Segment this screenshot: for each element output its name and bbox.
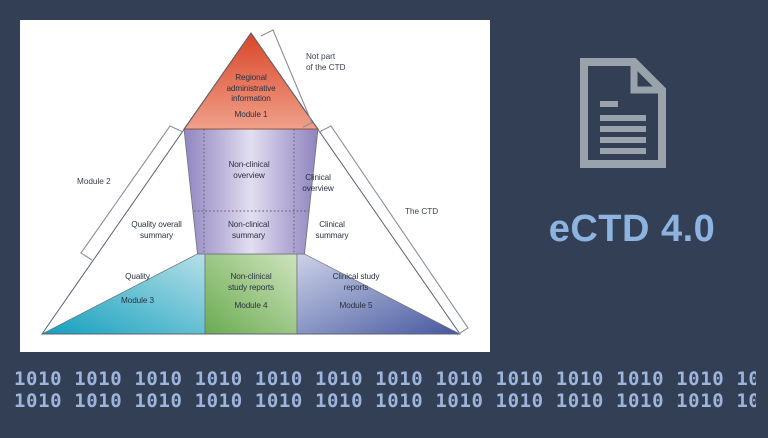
tier-modules-345 bbox=[42, 254, 460, 334]
cell-clinical-study-reports-shape bbox=[297, 254, 460, 334]
tier-module-2 bbox=[184, 129, 318, 254]
slide-canvas: Regional administrative information Modu… bbox=[0, 0, 768, 438]
bracket-module-2 bbox=[81, 126, 183, 260]
bracket-label-module-2: Module 2 bbox=[77, 177, 111, 188]
bracket-label-not-part-of-ctd: Not part of the CTD bbox=[306, 52, 346, 73]
binary-row-2: 1010 1010 1010 1010 1010 1010 1010 1010 … bbox=[14, 390, 756, 412]
document-line-5 bbox=[600, 148, 646, 154]
document-line-3 bbox=[600, 126, 646, 132]
module-2-band-shape bbox=[184, 129, 318, 254]
bracket-label-the-ctd: The CTD bbox=[405, 207, 438, 218]
document-line-4 bbox=[600, 137, 646, 143]
document-line-1 bbox=[600, 101, 618, 107]
cell-nonclinical-study-reports-shape bbox=[205, 254, 297, 334]
binary-row-1: 1010 1010 1010 1010 1010 1010 1010 1010 … bbox=[14, 368, 756, 390]
tier-module-1 bbox=[184, 33, 318, 129]
ectd-wordmark: eCTD 4.0 bbox=[512, 208, 752, 251]
binary-decoration-strip: 1010 1010 1010 1010 1010 1010 1010 1010 … bbox=[14, 368, 756, 422]
bracket-label-line-1: Not part bbox=[306, 52, 346, 63]
ctd-diagram-card: Regional administrative information Modu… bbox=[20, 20, 490, 352]
document-icon bbox=[578, 57, 668, 169]
module-1-shape bbox=[184, 33, 318, 129]
bracket-label-line-2: of the CTD bbox=[306, 63, 346, 74]
cell-quality-shape-fill bbox=[42, 254, 205, 334]
document-line-2 bbox=[600, 115, 646, 121]
